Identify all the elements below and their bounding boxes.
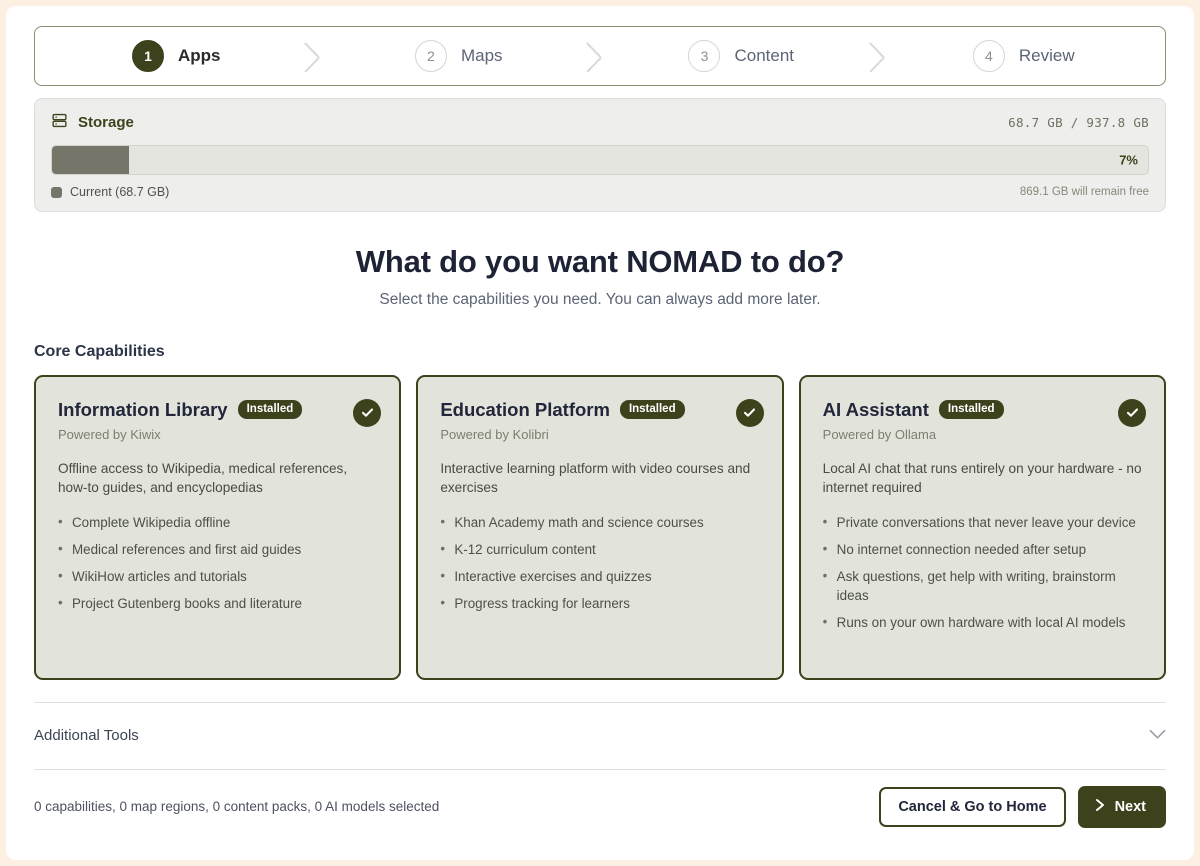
footer-actions: Cancel & Go to Home Next [879, 786, 1166, 828]
card-header: Information Library Installed [58, 399, 379, 421]
step-label-maps: Maps [461, 46, 503, 66]
server-icon [51, 112, 68, 133]
list-item: Project Gutenberg books and literature [58, 594, 379, 613]
step-number-3: 3 [688, 40, 720, 72]
storage-panel: Storage 68.7 GB / 937.8 GB 7% Current (6… [34, 98, 1166, 212]
step-content[interactable]: 3 Content [600, 27, 883, 85]
chevron-right-icon [1094, 798, 1106, 816]
list-item: Progress tracking for learners [440, 594, 761, 613]
selection-summary: 0 capabilities, 0 map regions, 0 content… [34, 799, 439, 814]
step-number-4: 4 [973, 40, 1005, 72]
list-item: Runs on your own hardware with local AI … [823, 613, 1144, 632]
list-item: Interactive exercises and quizzes [440, 567, 761, 586]
step-apps[interactable]: 1 Apps [35, 27, 318, 85]
additional-tools-accordion[interactable]: Additional Tools [34, 702, 1166, 770]
legend-label-current: Current (68.7 GB) [70, 185, 169, 199]
wizard-footer: 0 capabilities, 0 map regions, 0 content… [34, 770, 1166, 844]
next-button[interactable]: Next [1078, 786, 1166, 828]
card-header: AI Assistant Installed [823, 399, 1144, 421]
storage-capacity-text: 68.7 GB / 937.8 GB [1008, 115, 1149, 130]
card-powered-by: Powered by Kiwix [58, 427, 379, 442]
cancel-button[interactable]: Cancel & Go to Home [879, 787, 1065, 827]
check-circle-icon[interactable] [736, 399, 764, 427]
wizard-page: 1 Apps 2 Maps 3 Content 4 Review [6, 6, 1194, 860]
list-item: Private conversations that never leave y… [823, 513, 1144, 532]
list-item: Khan Academy math and science courses [440, 513, 761, 532]
card-powered-by: Powered by Kolibri [440, 427, 761, 442]
list-item: No internet connection needed after setu… [823, 540, 1144, 559]
list-item: K-12 curriculum content [440, 540, 761, 559]
storage-progress-fill [52, 146, 129, 174]
chevron-down-icon[interactable] [1149, 727, 1166, 745]
step-label-review: Review [1019, 46, 1075, 66]
list-item: Ask questions, get help with writing, br… [823, 567, 1144, 605]
card-description: Offline access to Wikipedia, medical ref… [58, 459, 379, 499]
step-maps[interactable]: 2 Maps [318, 27, 601, 85]
wizard-stepper: 1 Apps 2 Maps 3 Content 4 Review [34, 26, 1166, 86]
card-feature-list: Complete Wikipedia offline Medical refer… [58, 513, 379, 613]
page-subtitle: Select the capabilities you need. You ca… [34, 291, 1166, 309]
card-description: Local AI chat that runs entirely on your… [823, 459, 1144, 499]
status-badge: Installed [620, 400, 685, 419]
check-circle-icon[interactable] [1118, 399, 1146, 427]
storage-label: Storage [78, 114, 134, 131]
list-item: WikiHow articles and tutorials [58, 567, 379, 586]
card-powered-by: Powered by Ollama [823, 427, 1144, 442]
card-title: Education Platform [440, 399, 610, 421]
card-feature-list: Private conversations that never leave y… [823, 513, 1144, 632]
legend-swatch-current [51, 187, 62, 198]
status-badge: Installed [939, 400, 1004, 419]
storage-progress-bar: 7% [51, 145, 1149, 175]
additional-tools-label: Additional Tools [34, 727, 139, 744]
capability-card-education-platform[interactable]: Education Platform Installed Powered by … [416, 375, 783, 680]
step-number-1: 1 [132, 40, 164, 72]
next-button-label: Next [1115, 799, 1146, 815]
card-header: Education Platform Installed [440, 399, 761, 421]
capability-card-information-library[interactable]: Information Library Installed Powered by… [34, 375, 401, 680]
card-title: AI Assistant [823, 399, 929, 421]
step-label-content: Content [734, 46, 794, 66]
storage-percent-label: 7% [1119, 153, 1138, 168]
status-badge: Installed [238, 400, 303, 419]
step-label-apps: Apps [178, 46, 221, 66]
page-title: What do you want NOMAD to do? [34, 244, 1166, 280]
step-review[interactable]: 4 Review [883, 27, 1166, 85]
storage-title-group: Storage [51, 112, 134, 133]
check-circle-icon[interactable] [353, 399, 381, 427]
storage-legend: Current (68.7 GB) [51, 185, 169, 199]
capability-card-ai-assistant[interactable]: AI Assistant Installed Powered by Ollama… [799, 375, 1166, 680]
step-number-2: 2 [415, 40, 447, 72]
card-title: Information Library [58, 399, 228, 421]
storage-free-text: 869.1 GB will remain free [1020, 186, 1149, 198]
storage-header: Storage 68.7 GB / 937.8 GB [51, 112, 1149, 133]
hero-section: What do you want NOMAD to do? Select the… [34, 244, 1166, 309]
core-capabilities-heading: Core Capabilities [34, 343, 1166, 361]
card-feature-list: Khan Academy math and science courses K-… [440, 513, 761, 613]
storage-footer: Current (68.7 GB) 869.1 GB will remain f… [51, 185, 1149, 199]
card-description: Interactive learning platform with video… [440, 459, 761, 499]
capability-card-grid: Information Library Installed Powered by… [34, 375, 1166, 680]
list-item: Medical references and first aid guides [58, 540, 379, 559]
list-item: Complete Wikipedia offline [58, 513, 379, 532]
